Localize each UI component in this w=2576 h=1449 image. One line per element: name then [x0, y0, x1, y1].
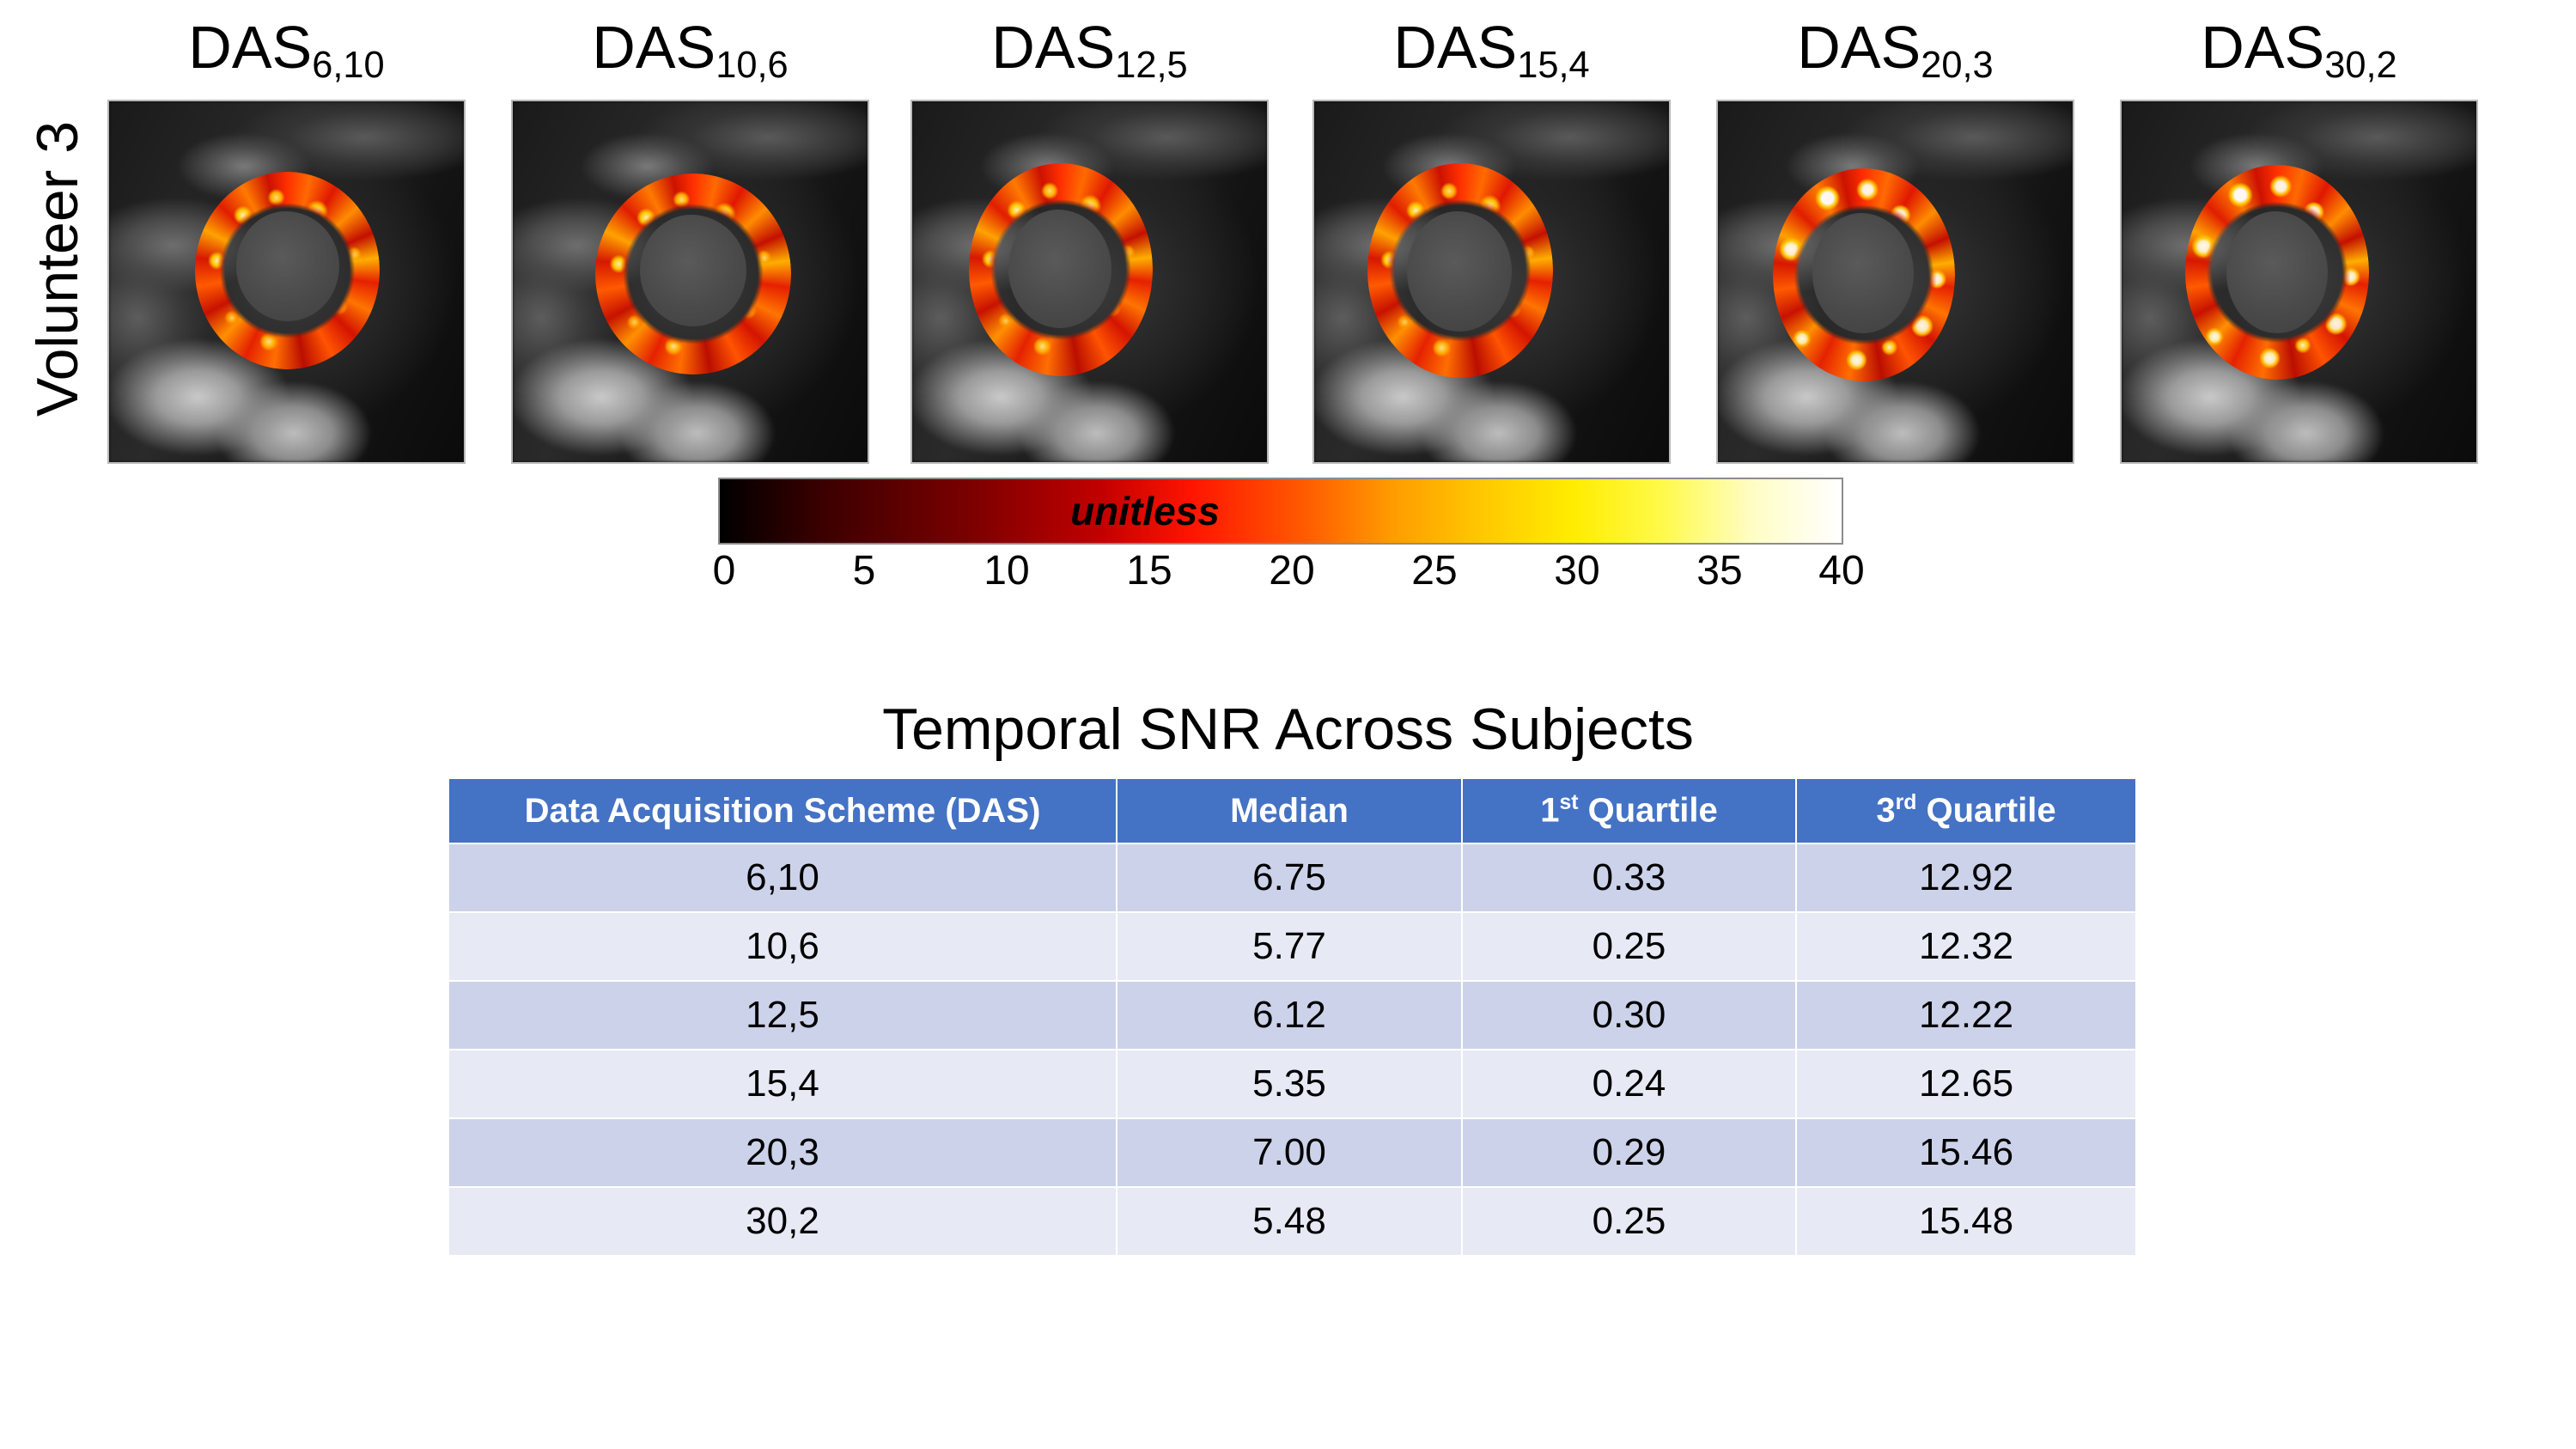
tsnr-map-das-15-4 [1312, 100, 1671, 464]
colorbar-tick-10: 10 [955, 548, 1058, 594]
cell-median: 5.77 [1117, 913, 1461, 980]
row-label-volunteer: Volunteer 3 [19, 71, 96, 466]
table-header-row: Data Acquisition Scheme (DAS) Median 1st… [449, 779, 2135, 843]
table-row: 20,3 7.00 0.29 15.46 [449, 1119, 2135, 1186]
panel-title-das-12-5: DAS12,5 [910, 5, 1269, 89]
cell-q1: 0.24 [1463, 1050, 1795, 1117]
cell-q3: 12.65 [1797, 1050, 2135, 1117]
panel-title-subscript-4: 15,4 [1517, 45, 1589, 86]
column-header-q3: 3rd Quartile [1797, 779, 2135, 843]
tsnr-map-das-30-2 [2120, 100, 2478, 464]
cell-median: 7.00 [1117, 1119, 1461, 1186]
blood-pool-6 [2226, 211, 2328, 333]
cell-q1: 0.33 [1463, 844, 1795, 911]
panel-title-subscript-1: 6,10 [312, 45, 384, 86]
tsnr-map-das-12-5 [910, 100, 1269, 464]
panel-title-subscript-6: 30,2 [2324, 45, 2396, 86]
cell-median: 5.35 [1117, 1050, 1461, 1117]
cell-median: 6.75 [1117, 844, 1461, 911]
cell-das: 10,6 [449, 913, 1116, 980]
panel-title-subscript-2: 10,6 [716, 45, 788, 86]
blood-pool-2 [640, 215, 746, 326]
cell-q3: 15.48 [1797, 1188, 2135, 1255]
colorbar-unit-label: unitless [582, 478, 1708, 545]
cell-das: 15,4 [449, 1050, 1116, 1117]
colorbar-tick-15: 15 [1098, 548, 1201, 594]
panel-title-das-10-6: DAS10,6 [511, 5, 869, 89]
column-header-q1-num: 1 [1540, 792, 1559, 830]
colorbar-tick-20: 20 [1240, 548, 1343, 594]
panel-title-prefix-4: DAS [1393, 14, 1517, 81]
tsnr-map-das-6-10 [107, 100, 466, 464]
panel-title-prefix-5: DAS [1797, 14, 1921, 81]
colorbar-tick-0: 0 [673, 548, 776, 594]
cell-median: 6.12 [1117, 982, 1461, 1049]
blood-pool-5 [1812, 213, 1914, 333]
cell-q1: 0.29 [1463, 1119, 1795, 1186]
colorbar-tick-labels: 0 5 10 15 20 25 30 35 40 [718, 548, 1843, 600]
panel-title-subscript-3: 12,5 [1115, 45, 1187, 86]
panel-title-prefix-2: DAS [592, 14, 716, 81]
cell-das: 30,2 [449, 1188, 1116, 1255]
blood-pool-1 [236, 211, 339, 321]
panel-title-das-15-4: DAS15,4 [1312, 5, 1671, 89]
colorbar: unitless [718, 478, 1843, 545]
table-row: 6,10 6.75 0.33 12.92 [449, 844, 2135, 911]
table-title: Temporal SNR Across Subjects [448, 692, 2128, 766]
colorbar-tick-5: 5 [813, 548, 916, 594]
cell-q3: 12.22 [1797, 982, 2135, 1049]
column-header-median-text: Median [1230, 792, 1349, 830]
panel-title-subscript-5: 20,3 [1921, 45, 1993, 86]
panel-title-das-6-10: DAS6,10 [107, 5, 466, 89]
cell-das: 20,3 [449, 1119, 1116, 1186]
tsnr-map-das-10-6 [511, 100, 869, 464]
panel-title-prefix-1: DAS [188, 14, 312, 81]
cell-q1: 0.25 [1463, 1188, 1795, 1255]
blood-pool-4 [1407, 211, 1512, 332]
tsnr-map-das-20-3 [1716, 100, 2074, 464]
column-header-q3-num: 3 [1876, 792, 1895, 830]
panel-title-das-20-3: DAS20,3 [1716, 5, 2074, 89]
cell-das: 6,10 [449, 844, 1116, 911]
panel-title-prefix-3: DAS [991, 14, 1115, 81]
column-header-q3-sup: rd [1896, 791, 1917, 814]
panel-title-das-30-2: DAS30,2 [2120, 5, 2478, 89]
cell-q3: 12.32 [1797, 913, 2135, 980]
panel-title-prefix-6: DAS [2201, 14, 2324, 81]
cell-median: 5.48 [1117, 1188, 1461, 1255]
column-header-q1-text: Quartile [1579, 792, 1718, 830]
colorbar-tick-30: 30 [1526, 548, 1629, 594]
table-row: 30,2 5.48 0.25 15.48 [449, 1188, 2135, 1255]
column-header-q3-text: Quartile [1916, 792, 2055, 830]
temporal-snr-table: Data Acquisition Scheme (DAS) Median 1st… [448, 777, 2137, 1257]
table-row: 10,6 5.77 0.25 12.32 [449, 913, 2135, 980]
colorbar-tick-40: 40 [1790, 548, 1893, 594]
table-row: 12,5 6.12 0.30 12.22 [449, 982, 2135, 1049]
column-header-q1-sup: st [1559, 791, 1578, 814]
cell-q3: 15.46 [1797, 1119, 2135, 1186]
column-header-das-text: Data Acquisition Scheme (DAS) [525, 792, 1041, 830]
column-header-das: Data Acquisition Scheme (DAS) [449, 779, 1116, 843]
column-header-median: Median [1117, 779, 1461, 843]
colorbar-tick-35: 35 [1668, 548, 1771, 594]
cell-q1: 0.25 [1463, 913, 1795, 980]
blood-pool-3 [1008, 210, 1111, 328]
column-header-q1: 1st Quartile [1463, 779, 1795, 843]
cell-q3: 12.92 [1797, 844, 2135, 911]
table-row: 15,4 5.35 0.24 12.65 [449, 1050, 2135, 1117]
colorbar-tick-25: 25 [1383, 548, 1486, 594]
cell-q1: 0.30 [1463, 982, 1795, 1049]
cell-das: 12,5 [449, 982, 1116, 1049]
